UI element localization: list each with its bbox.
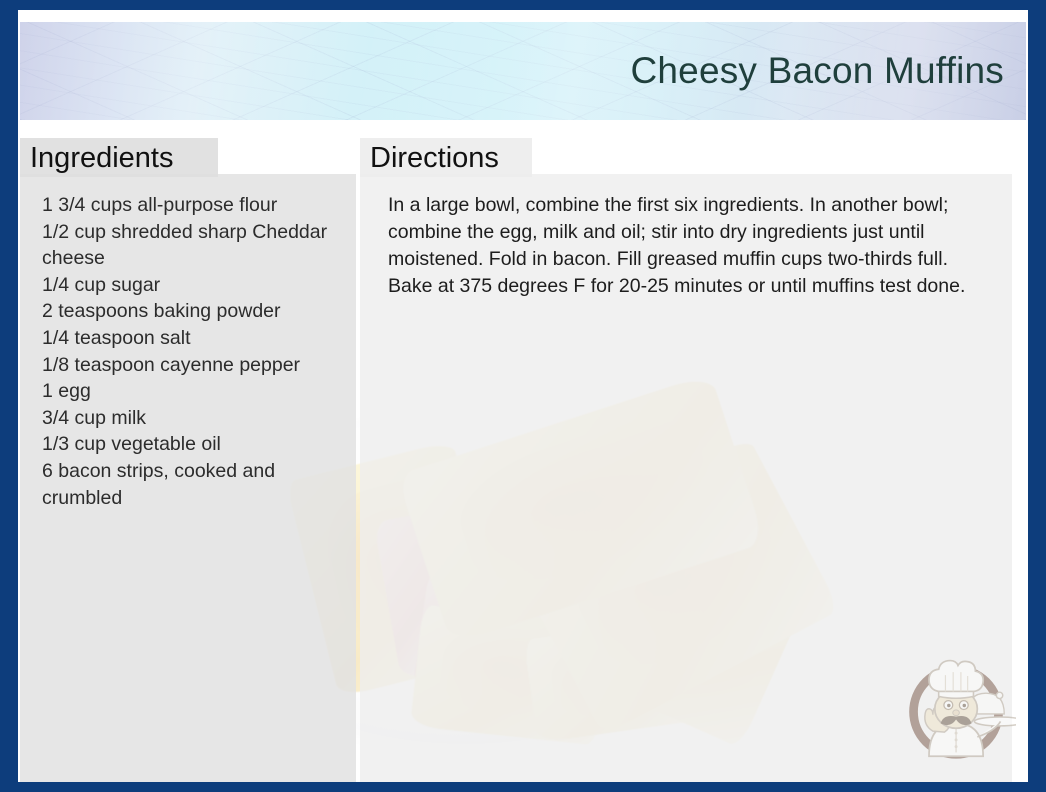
recipe-card-slide: Cheesy Bacon Muffins Ingredients Directi… <box>0 0 1046 792</box>
ingredient-item: 1/2 cup shredded sharp Cheddar cheese <box>42 219 346 272</box>
ingredient-item: 1/4 cup sugar <box>42 272 346 299</box>
directions-body: In a large bowl, combine the first six i… <box>360 192 1012 300</box>
ingredient-item: 1 3/4 cups all-purpose flour <box>42 192 346 219</box>
directions-heading: Directions <box>360 138 532 177</box>
ingredient-item: 1/3 cup vegetable oil <box>42 431 346 458</box>
page-title: Cheesy Bacon Muffins <box>630 50 1004 92</box>
ingredients-list: 1 3/4 cups all-purpose flour1/2 cup shre… <box>20 192 356 511</box>
ingredient-item: 1 egg <box>42 378 346 405</box>
slide-page: Cheesy Bacon Muffins Ingredients Directi… <box>18 10 1028 782</box>
ingredient-item: 2 teaspoons baking powder <box>42 298 346 325</box>
ingredients-heading: Ingredients <box>20 138 218 177</box>
ingredient-item: 6 bacon strips, cooked and crumbled <box>42 458 346 511</box>
ingredient-item: 1/8 teaspoon cayenne pepper <box>42 352 346 379</box>
ingredient-item: 1/4 teaspoon salt <box>42 325 346 352</box>
ingredient-item: 3/4 cup milk <box>42 405 346 432</box>
title-banner: Cheesy Bacon Muffins <box>20 22 1026 120</box>
